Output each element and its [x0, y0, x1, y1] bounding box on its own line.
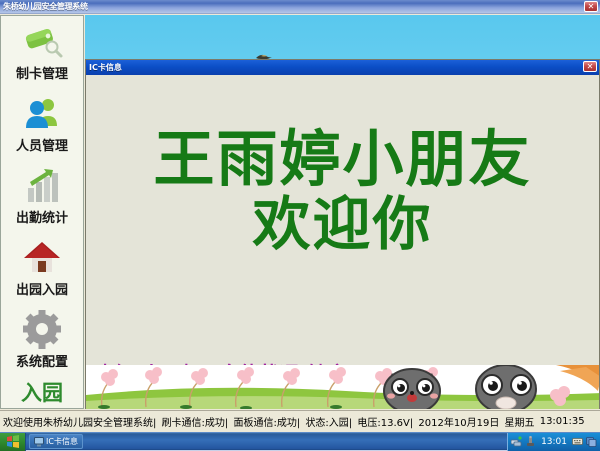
keyboard-ime-icon[interactable] — [572, 436, 583, 447]
sidebar-item-label: 制卡管理 — [16, 63, 68, 82]
start-button[interactable] — [0, 433, 26, 451]
usb-device-icon[interactable] — [525, 436, 536, 447]
window-close-button[interactable]: ✕ — [584, 1, 598, 12]
sidebar-item-label: 人员管理 — [16, 135, 68, 154]
ic-card-info-window: IC卡信息 ✕ 王雨婷小朋友 欢迎你 班级:小1班 身体状况:健康 597秒后关… — [85, 59, 600, 409]
welcome-greeting: 欢迎你 — [86, 195, 599, 254]
statusbar-welcome: 欢迎使用朱桥幼儿园安全管理系统| — [3, 414, 156, 429]
statusbar-time: 13:01:35 — [540, 416, 585, 427]
ic-window-titlebar: IC卡信息 ✕ — [86, 60, 599, 75]
sidebar-item-entry-exit[interactable]: 出园入园 — [1, 232, 83, 304]
network-icon[interactable] — [511, 436, 522, 447]
ic-window-body: 王雨婷小朋友 欢迎你 班级:小1班 身体状况:健康 597秒后关闭显示器 — [86, 75, 599, 409]
welcome-block: 王雨婷小朋友 欢迎你 — [86, 129, 599, 254]
sidebar-item-label: 出园入园 — [16, 279, 68, 298]
window-title: 朱桥幼儿园安全管理系统 — [0, 1, 88, 12]
taskbar: IC卡信息 13:01 — [0, 432, 600, 450]
window-titlebar: 朱桥幼儿园安全管理系统 ✕ — [0, 0, 600, 14]
statusbar-state: 状态:入园| — [305, 414, 352, 429]
taskbar-item-ic-card-info[interactable]: IC卡信息 — [29, 434, 83, 449]
house-icon — [20, 238, 64, 278]
statusbar-date: 2012年10月19日 — [418, 414, 499, 429]
sidebar-status: 入园 — [1, 376, 83, 408]
cat-character-icon — [476, 365, 536, 409]
statusbar-weekday: 星期五 — [505, 414, 535, 429]
gear-icon — [20, 310, 64, 350]
sidebar-item-people-management[interactable]: 人员管理 — [1, 88, 83, 160]
windows-logo-icon — [6, 435, 20, 448]
people-icon — [20, 94, 64, 134]
sidebar-item-system-config[interactable]: 系统配置 — [1, 304, 83, 376]
ime-toolbar-icon[interactable] — [586, 436, 597, 447]
welcome-student-name: 王雨婷小朋友 — [86, 129, 599, 191]
sidebar-item-attendance-stats[interactable]: 出勤统计 — [1, 160, 83, 232]
tray-clock[interactable]: 13:01 — [539, 437, 569, 447]
ic-window-title: IC卡信息 — [86, 62, 122, 73]
close-icon: ✕ — [588, 3, 595, 11]
sidebar: 制卡管理 人员管理 出勤统计 — [0, 15, 84, 409]
cat-character-icon — [384, 369, 440, 409]
statusbar: 欢迎使用朱桥幼儿园安全管理系统| 刷卡通信:成功| 面板通信:成功| 状态:入园… — [0, 410, 600, 432]
sidebar-status-label: 入园 — [21, 377, 63, 407]
taskbar-item-label: IC卡信息 — [46, 436, 78, 447]
statusbar-card-comm: 刷卡通信:成功| — [162, 414, 229, 429]
ic-window-close-button[interactable]: ✕ — [583, 61, 597, 72]
system-tray: 13:01 — [507, 433, 600, 451]
statusbar-panel-comm: 面板通信:成功| — [234, 414, 301, 429]
close-icon: ✕ — [587, 63, 594, 71]
application-window: 朱桥幼儿园安全管理系统 ✕ 制卡管理 — [0, 0, 600, 432]
bar-chart-icon — [20, 166, 64, 206]
card-tag-icon — [20, 22, 64, 62]
monitor-icon — [34, 437, 44, 447]
cartoon-decoration — [86, 365, 599, 409]
sidebar-item-card-management[interactable]: 制卡管理 — [1, 16, 83, 88]
cartoon-illustration — [86, 365, 599, 409]
sidebar-item-label: 出勤统计 — [16, 207, 68, 226]
statusbar-voltage: 电压:13.6V| — [357, 414, 413, 429]
sidebar-item-label: 系统配置 — [16, 351, 68, 370]
desktop-background: IC卡信息 ✕ 王雨婷小朋友 欢迎你 班级:小1班 身体状况:健康 597秒后关… — [85, 15, 600, 409]
